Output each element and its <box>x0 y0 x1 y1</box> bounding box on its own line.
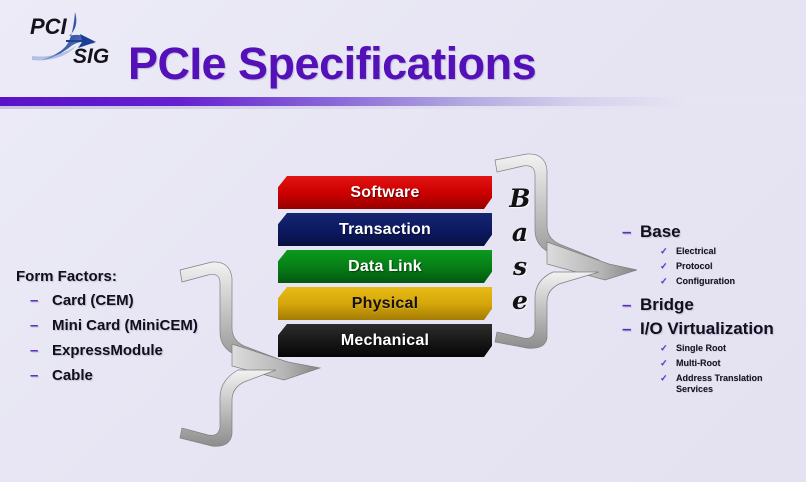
logo-text-pci: PCI <box>30 14 68 39</box>
spec-sublist-io-virtualization: ✓ Single Root ✓ Multi-Root ✓ Address Tra… <box>622 343 802 395</box>
stack-layer-physical: Physical <box>278 287 492 320</box>
list-item: ✓ Single Root <box>660 343 802 354</box>
stack-layer-data-link: Data Link <box>278 250 492 283</box>
spec-group-heading: Base <box>640 222 681 242</box>
spec-group-base: – Base ✓ Electrical ✓ Protocol ✓ Configu… <box>622 222 802 287</box>
slide-canvas: PCI SIG PCIe Specifications Software Tra… <box>0 0 806 482</box>
list-item: ✓ Configuration <box>660 276 802 287</box>
stack-layer-label: Physical <box>278 287 492 320</box>
stack-layer-software: Software <box>278 176 492 209</box>
bullet-dash: – <box>16 317 52 334</box>
spec-group-heading: Bridge <box>640 295 694 315</box>
spec-group-heading-row: – Bridge <box>622 295 802 315</box>
page-title: PCIe Specifications <box>128 38 536 90</box>
title-divider-shadow <box>0 106 806 109</box>
spec-group-heading-row: – I/O Virtualization <box>622 319 802 339</box>
spec-sublist-base: ✓ Electrical ✓ Protocol ✓ Configuration <box>622 246 802 287</box>
stack-layer-label: Transaction <box>278 213 492 246</box>
slide-header: PCI SIG PCIe Specifications <box>0 0 806 105</box>
logo-text-sig: SIG <box>73 45 109 68</box>
bullet-dash: – <box>16 342 52 359</box>
pci-sig-logo: PCI SIG <box>14 6 132 72</box>
bullet-dash: – <box>16 367 52 384</box>
stack-layer-transaction: Transaction <box>278 213 492 246</box>
check-icon: ✓ <box>660 246 676 257</box>
list-item-label: Card (CEM) <box>52 292 134 309</box>
stack-layer-label: Software <box>278 176 492 209</box>
list-item-label: Configuration <box>676 276 735 287</box>
check-icon: ✓ <box>660 276 676 287</box>
base-letter-a: a <box>512 220 528 246</box>
spec-group-heading-row: – Base <box>622 222 802 242</box>
list-item: ✓ Multi-Root <box>660 358 802 369</box>
spec-group-bridge: – Bridge <box>622 295 802 315</box>
base-letter-s: s <box>513 254 527 280</box>
list-item-label: Address Translation Services <box>676 373 788 395</box>
base-vertical-label: B a s e <box>505 186 535 314</box>
list-item-label: Cable <box>52 367 93 384</box>
protocol-stack: Software Transaction Data Link Physical … <box>278 176 492 361</box>
list-item: ✓ Electrical <box>660 246 802 257</box>
base-letter-e: e <box>512 288 528 314</box>
title-divider <box>0 97 806 106</box>
spec-group-io-virtualization: – I/O Virtualization ✓ Single Root ✓ Mul… <box>622 319 802 395</box>
stack-layer-label: Mechanical <box>278 324 492 357</box>
list-item-label: Electrical <box>676 246 716 257</box>
list-item: ✓ Address Translation Services <box>660 373 802 395</box>
list-item-label: Single Root <box>676 343 726 354</box>
check-icon: ✓ <box>660 373 676 384</box>
list-item-label: ExpressModule <box>52 342 163 359</box>
stack-layer-label: Data Link <box>278 250 492 283</box>
spec-list-block: – Base ✓ Electrical ✓ Protocol ✓ Configu… <box>622 222 802 403</box>
check-icon: ✓ <box>660 343 676 354</box>
base-letter-b: B <box>509 186 530 212</box>
list-item: ✓ Protocol <box>660 261 802 272</box>
check-icon: ✓ <box>660 358 676 369</box>
spec-group-heading: I/O Virtualization <box>640 319 774 339</box>
list-item-label: Protocol <box>676 261 713 272</box>
stack-layer-mechanical: Mechanical <box>278 324 492 357</box>
bullet-dash: – <box>16 292 52 309</box>
check-icon: ✓ <box>660 261 676 272</box>
list-item-label: Multi-Root <box>676 358 720 369</box>
